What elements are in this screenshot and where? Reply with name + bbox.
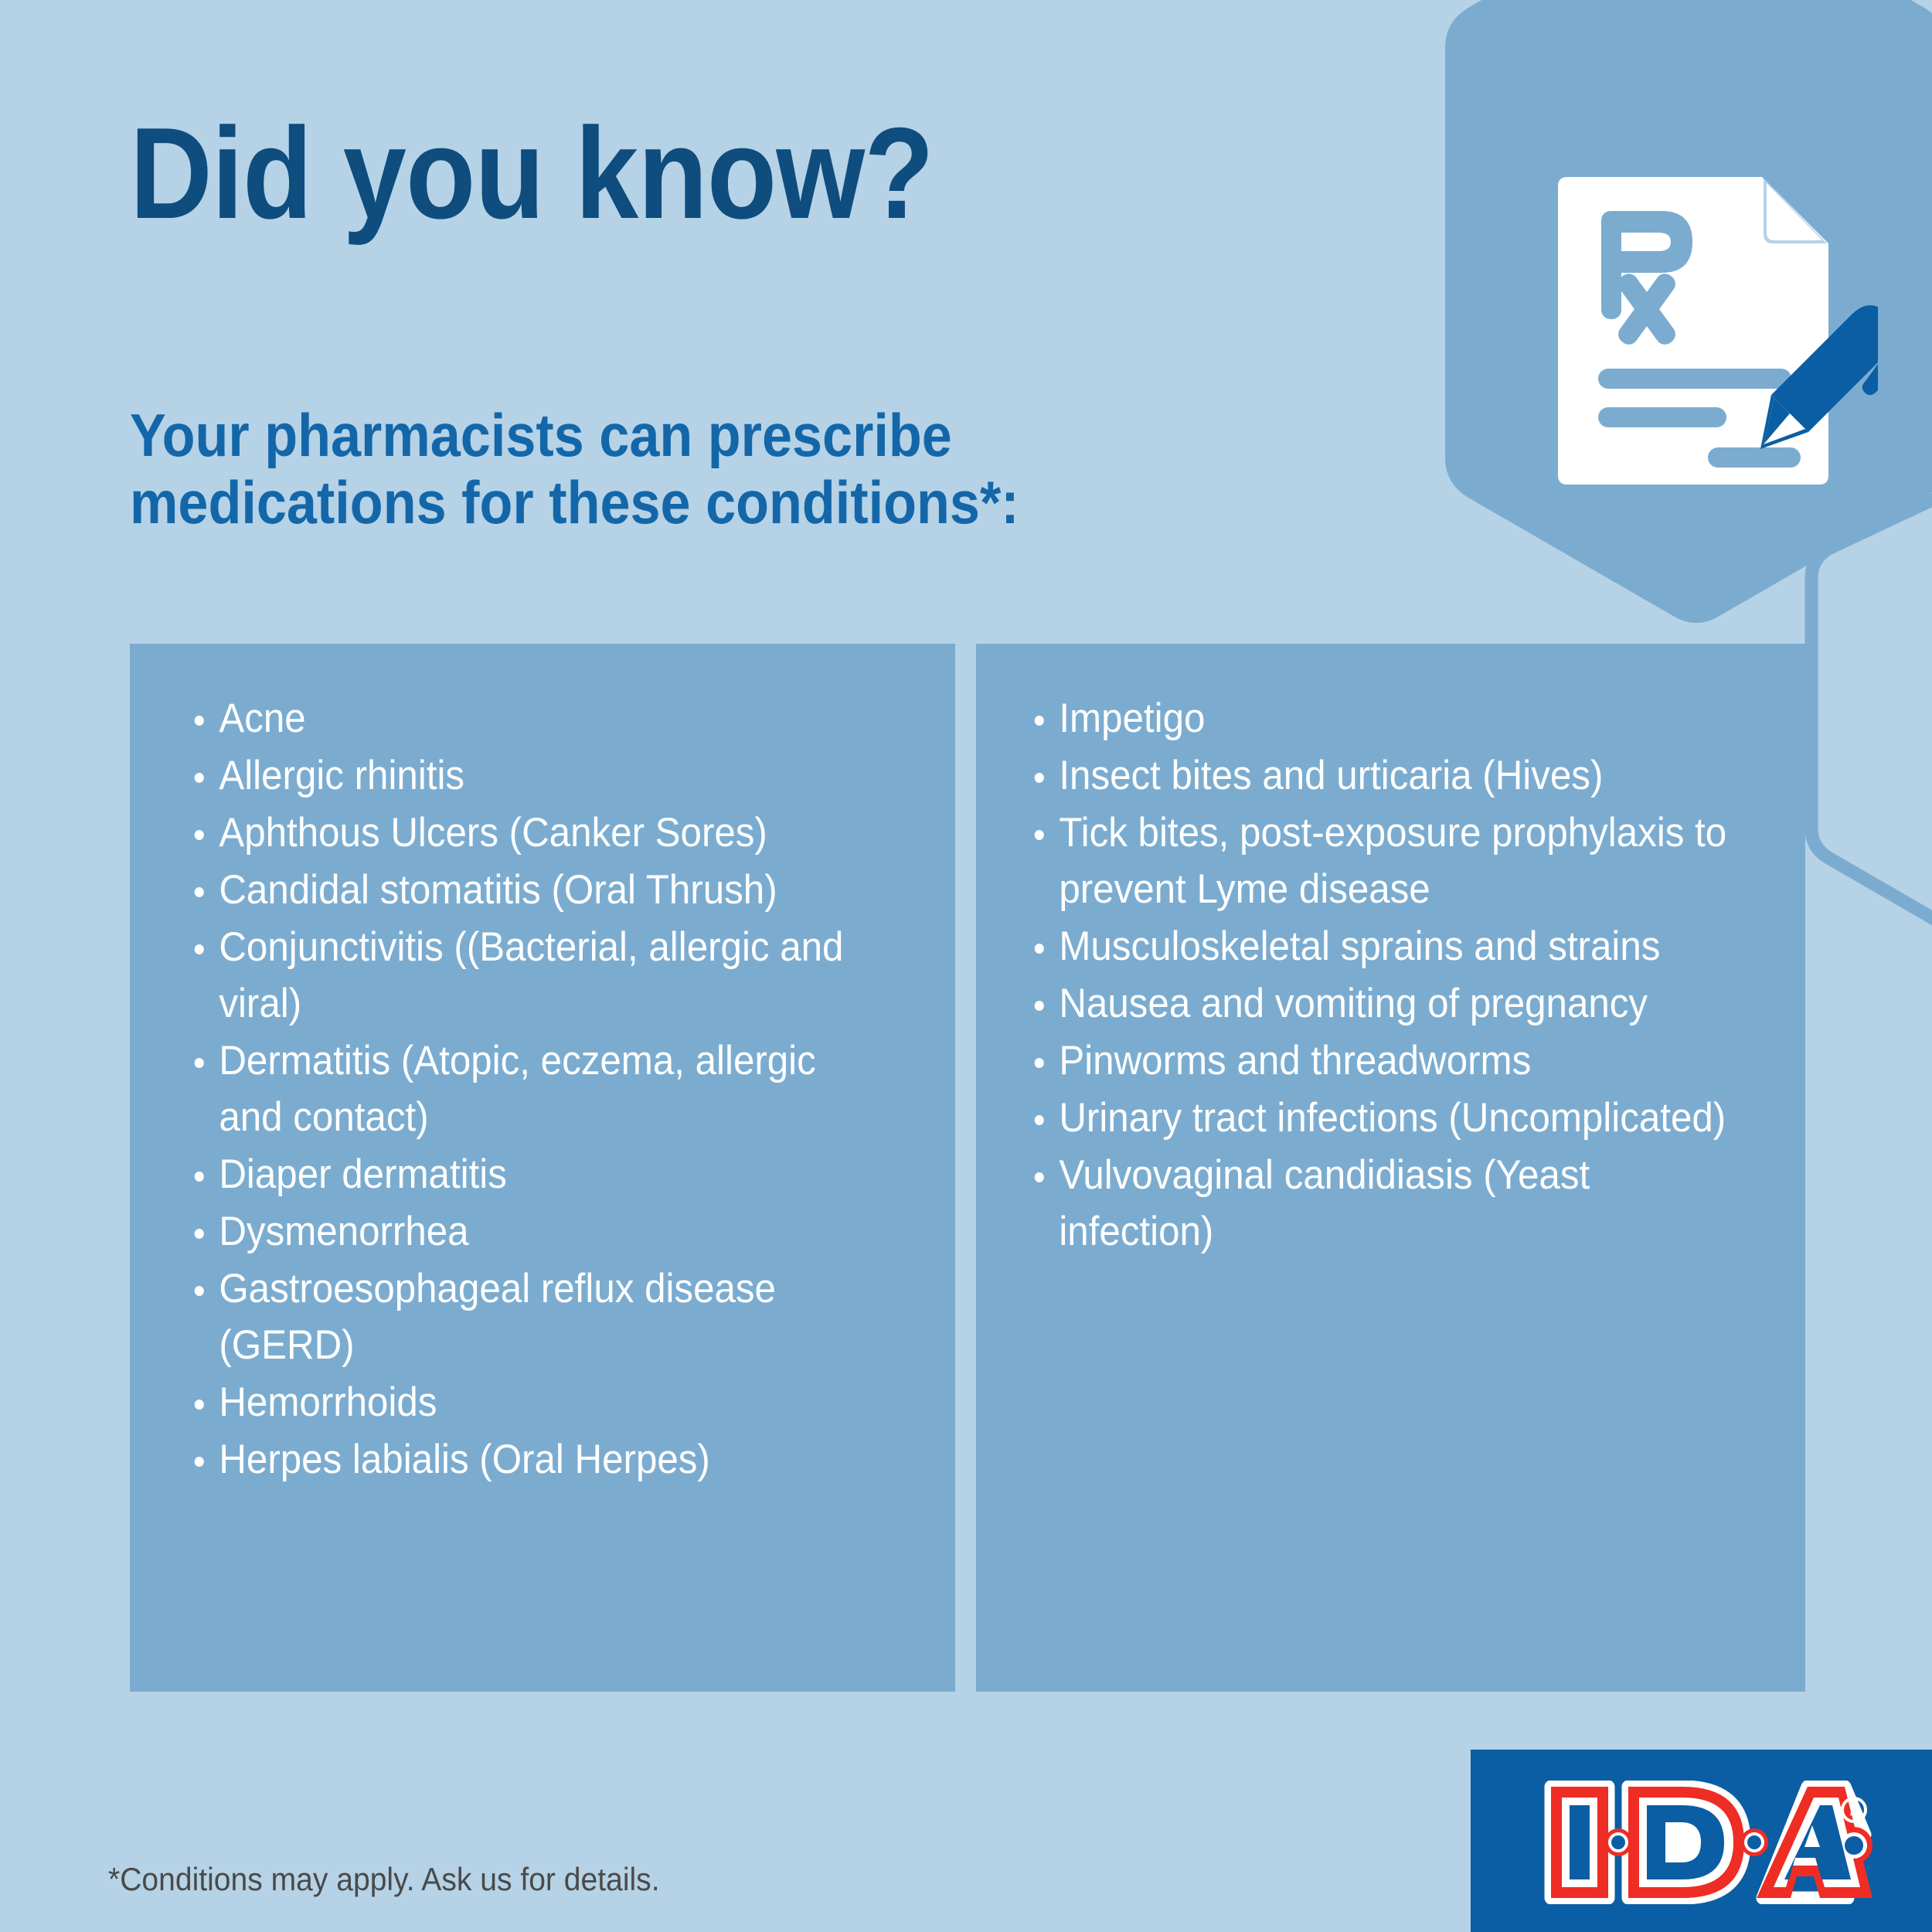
page-title: Did you know? [130, 108, 934, 238]
conditions-list-left: AcneAllergic rhinitisAphthous Ulcers (Ca… [192, 690, 934, 1488]
conditions-list-right: ImpetigoInsect bites and urticaria (Hive… [1032, 690, 1789, 1260]
condition-list-item: Urinary tract infections (Uncomplicated) [1032, 1090, 1736, 1146]
subtitle-line-2: medications for these conditions*: [130, 469, 1019, 536]
condition-list-item: Hemorrhoids [192, 1374, 882, 1430]
condition-list-item: Vulvovaginal candidiasis (Yeast infectio… [1032, 1147, 1736, 1260]
condition-list-item: Dysmenorrhea [192, 1203, 882, 1260]
page-subtitle: Your pharmacists can prescribe medicatio… [130, 402, 1019, 537]
footnote-text: *Conditions may apply. Ask us for detail… [108, 1861, 660, 1898]
condition-list-item: Aphthous Ulcers (Canker Sores) [192, 804, 882, 861]
condition-list-item: Candidal stomatitis (Oral Thrush) [192, 862, 882, 918]
ida-logo-mark: R [1542, 1781, 1874, 1904]
condition-list-item: Herpes labialis (Oral Herpes) [192, 1431, 882, 1488]
condition-list-item: Diaper dermatitis [192, 1146, 882, 1202]
condition-list-item: Allergic rhinitis [192, 747, 882, 804]
svg-text:R: R [1849, 1803, 1859, 1819]
condition-list-item: Tick bites, post-exposure prophylaxis to… [1032, 804, 1736, 917]
condition-list-item: Gastroesophageal reflux disease (GERD) [192, 1260, 882, 1373]
condition-list-item: Impetigo [1032, 690, 1736, 747]
condition-list-item: Acne [192, 690, 882, 747]
condition-list-item: Dermatitis (Atopic, eczema, allergic and… [192, 1032, 882, 1145]
infographic-poster: Did you know? Your pharmacists can presc… [0, 0, 1932, 1932]
conditions-panel-right: ImpetigoInsect bites and urticaria (Hive… [976, 644, 1805, 1692]
ida-logo-block: R [1471, 1750, 1932, 1932]
hexagon-outline [1811, 464, 1932, 948]
subtitle-line-1: Your pharmacists can prescribe [130, 402, 1019, 469]
condition-list-item: Nausea and vomiting of pregnancy [1032, 975, 1736, 1032]
prescription-document-icon [1553, 166, 1878, 491]
conditions-panel-left: AcneAllergic rhinitisAphthous Ulcers (Ca… [130, 644, 955, 1692]
condition-list-item: Insect bites and urticaria (Hives) [1032, 747, 1736, 804]
condition-list-item: Conjunctivitis ((Bacterial, allergic and… [192, 919, 882, 1032]
condition-list-item: Musculoskeletal sprains and strains [1032, 918, 1736, 975]
condition-list-item: Pinworms and threadworms [1032, 1032, 1736, 1089]
